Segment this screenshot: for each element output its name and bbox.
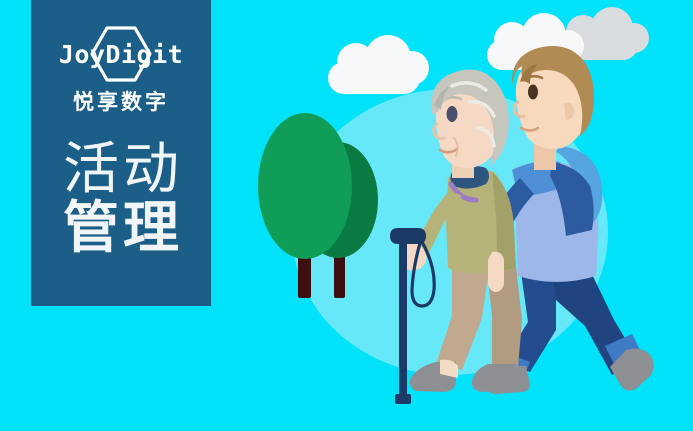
elderly-woman-right-hand: [488, 252, 504, 292]
elderly-woman-eye: [447, 106, 458, 122]
banner-panel: JoyDigit 悦享数字 活动 管理: [31, 0, 211, 306]
logo-subtitle: 悦享数字: [73, 92, 169, 113]
poster-title-line-1: 活动: [59, 139, 183, 198]
cane-shaft: [399, 242, 407, 400]
logo-wordmark: JoyDigit: [59, 42, 183, 67]
poster-canvas: JoyDigit 悦享数字 活动 管理: [0, 0, 693, 431]
poster-title-line-2: 管理: [59, 198, 183, 257]
brand-logo: JoyDigit: [46, 28, 196, 80]
poster-title: 活动 管理: [59, 139, 183, 258]
cane-tip: [395, 394, 411, 404]
young-man-eye: [528, 85, 538, 100]
